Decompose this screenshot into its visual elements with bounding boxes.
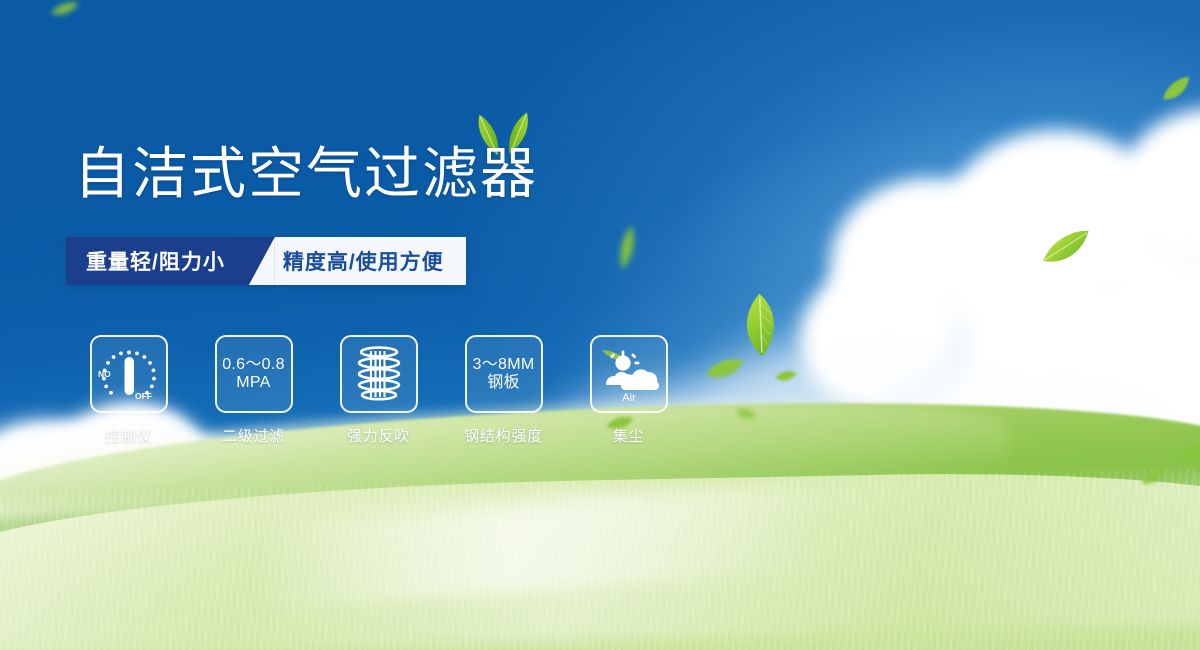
gauge-off-label: OFF [135,391,152,401]
page-title: 自洁式空气过滤器 [74,146,538,202]
gauge-dial-icon: NO OFF [95,342,163,406]
subtitle-left-segment: 重量轻/阻力小 [66,237,249,285]
pressure-value: 0.6～0.8 [222,356,285,374]
feature-item-steel[interactable]: 3～8MM 钢板 钢结构强度 [441,335,566,446]
feature-label: 集尘 [613,425,645,446]
feature-item-blowback[interactable]: 强力反吹 [316,335,441,446]
steel-plate-text-icon: 3～8MM 钢板 [473,356,535,392]
cloud-air-label: Air [622,392,636,404]
feature-list: NO OFF 控制仪 0.6～0.8 MPA 二级过滤 [66,335,691,446]
feature-icon-box: Air [590,335,668,413]
pressure-text-icon: 0.6～0.8 MPA [222,356,285,392]
feature-icon-box [340,335,418,413]
feature-label: 钢结构强度 [464,425,543,446]
cloud-air-icon: Air [596,344,662,404]
banner-content: 自洁式空气过滤器 重量轻/阻力小 精度高/使用方便 [0,0,1200,650]
feature-label: 强力反吹 [347,425,410,446]
gauge-on-label: NO [98,369,111,379]
coil-filter-icon [350,343,408,405]
subtitle-right-segment: 精度高/使用方便 [275,237,466,285]
feature-label: 控制仪 [105,425,152,446]
subtitle-diagonal-divider [249,237,275,285]
feature-icon-box: 3～8MM 钢板 [465,335,543,413]
pressure-unit: MPA [222,374,285,392]
feature-item-dustcollect[interactable]: Air 集尘 [566,335,691,446]
feature-item-control[interactable]: NO OFF 控制仪 [66,335,191,446]
feature-icon-box: 0.6～0.8 MPA [215,335,293,413]
feature-item-pressure[interactable]: 0.6～0.8 MPA 二级过滤 [191,335,316,446]
feature-icon-box: NO OFF [90,335,168,413]
steel-material: 钢板 [473,374,535,392]
steel-thickness: 3～8MM [473,356,535,374]
subtitle-bar: 重量轻/阻力小 精度高/使用方便 [66,237,466,285]
banner-root: 自洁式空气过滤器 重量轻/阻力小 精度高/使用方便 [0,0,1200,650]
feature-label: 二级过滤 [222,425,285,446]
